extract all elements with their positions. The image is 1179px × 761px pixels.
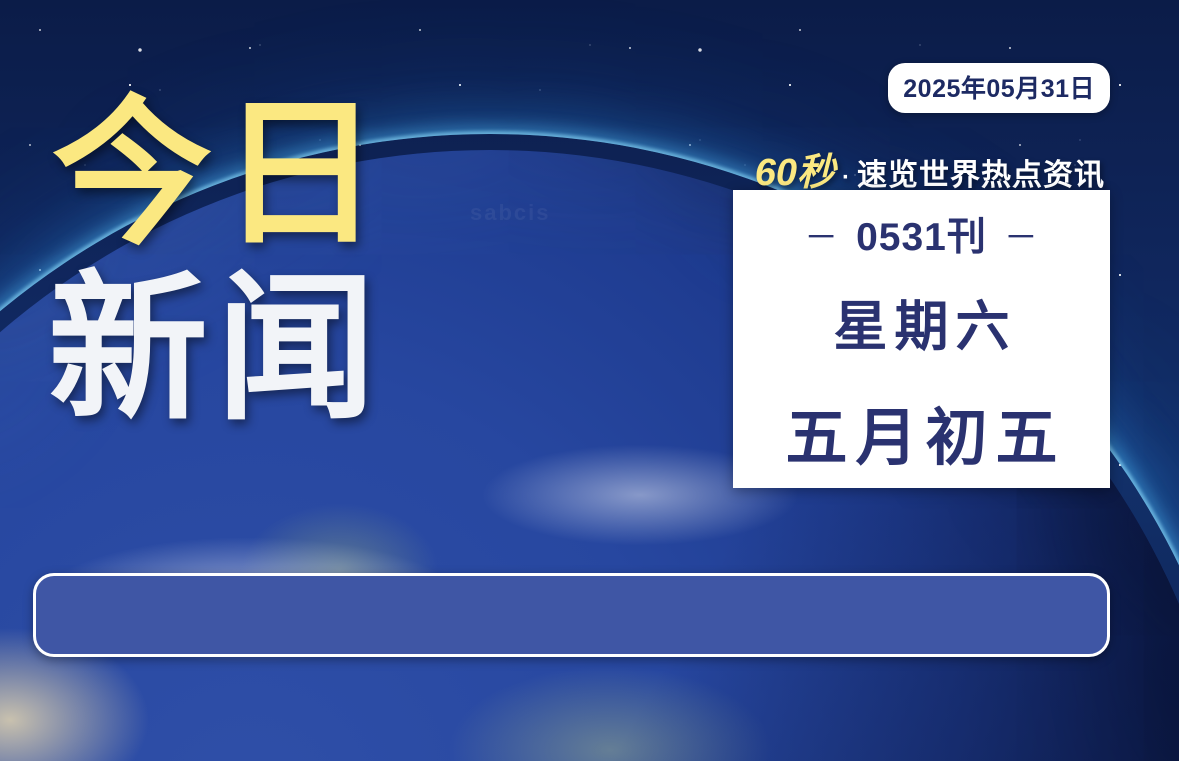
weekday-label: 星期六 xyxy=(827,282,1017,361)
issue-dash-right: － xyxy=(1004,210,1039,259)
news-poster: sabcis 今日 新闻 2025年05月31日 60秒 · 速览世界热点资讯 … xyxy=(0,0,1179,761)
page-title: 今日 新闻 xyxy=(52,96,388,428)
bottom-banner-bar[interactable] xyxy=(33,573,1110,657)
page-title-line-news: 新闻 xyxy=(48,271,388,428)
lunar-date-label: 五月初五 xyxy=(777,387,1065,477)
tagline-text: 速览世界热点资讯 xyxy=(857,150,1105,194)
tagline-highlight: 60秒 xyxy=(755,141,835,196)
tagline: 60秒 · 速览世界热点资讯 xyxy=(755,141,1105,196)
issue-label: 0531刊 xyxy=(856,206,987,262)
tagline-separator: · xyxy=(839,164,853,192)
issue-dash-left: － xyxy=(804,210,839,259)
issue-row: － 0531刊 － xyxy=(804,206,1039,262)
date-badge: 2025年05月31日 xyxy=(888,63,1110,113)
page-title-line-today: 今日 xyxy=(52,96,388,253)
info-card: － 0531刊 － 星期六 五月初五 xyxy=(733,190,1110,488)
